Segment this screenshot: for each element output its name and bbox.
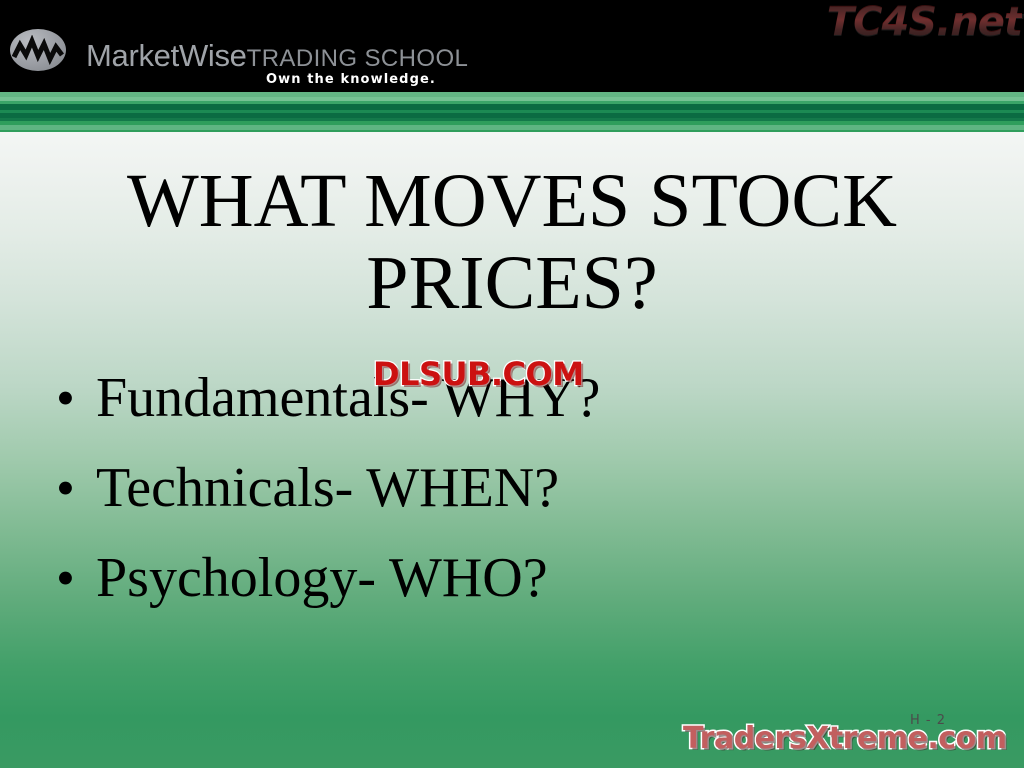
footer-watermark: TradersXtreme.com — [683, 724, 1006, 754]
bullet-marker-icon: • — [56, 373, 96, 424]
bullet-marker-icon: • — [56, 463, 96, 514]
center-watermark: DLSUB.COM — [373, 358, 584, 390]
slide-header: MarketWiseTRADING SCHOOL Own the knowled… — [0, 0, 1024, 92]
list-item: • Psychology- WHO? — [56, 550, 956, 640]
bullet-text: Psychology- WHO? — [96, 550, 548, 606]
brand-subtitle: TRADING SCHOOL — [247, 45, 469, 72]
brand-tagline: Own the knowledge. — [266, 72, 436, 87]
brand-name: MarketWise — [86, 38, 247, 73]
stripe — [0, 130, 1024, 132]
bullet-text: Technicals- WHEN? — [96, 460, 559, 516]
bullet-marker-icon: • — [56, 553, 96, 604]
marketwise-logo — [10, 29, 66, 71]
zigzag-chart-icon — [12, 35, 64, 65]
presentation-slide: MarketWiseTRADING SCHOOL Own the knowled… — [0, 0, 1024, 768]
green-stripe-band — [0, 92, 1024, 132]
slide-title: WHAT MOVES STOCK PRICES? — [60, 160, 964, 324]
bullet-list: • Fundamentals- WHY? • Technicals- WHEN?… — [56, 370, 956, 640]
brand-lockup: MarketWiseTRADING SCHOOL — [86, 40, 468, 71]
list-item: • Technicals- WHEN? — [56, 460, 956, 550]
corner-watermark: TC4S.net — [827, 2, 1022, 42]
